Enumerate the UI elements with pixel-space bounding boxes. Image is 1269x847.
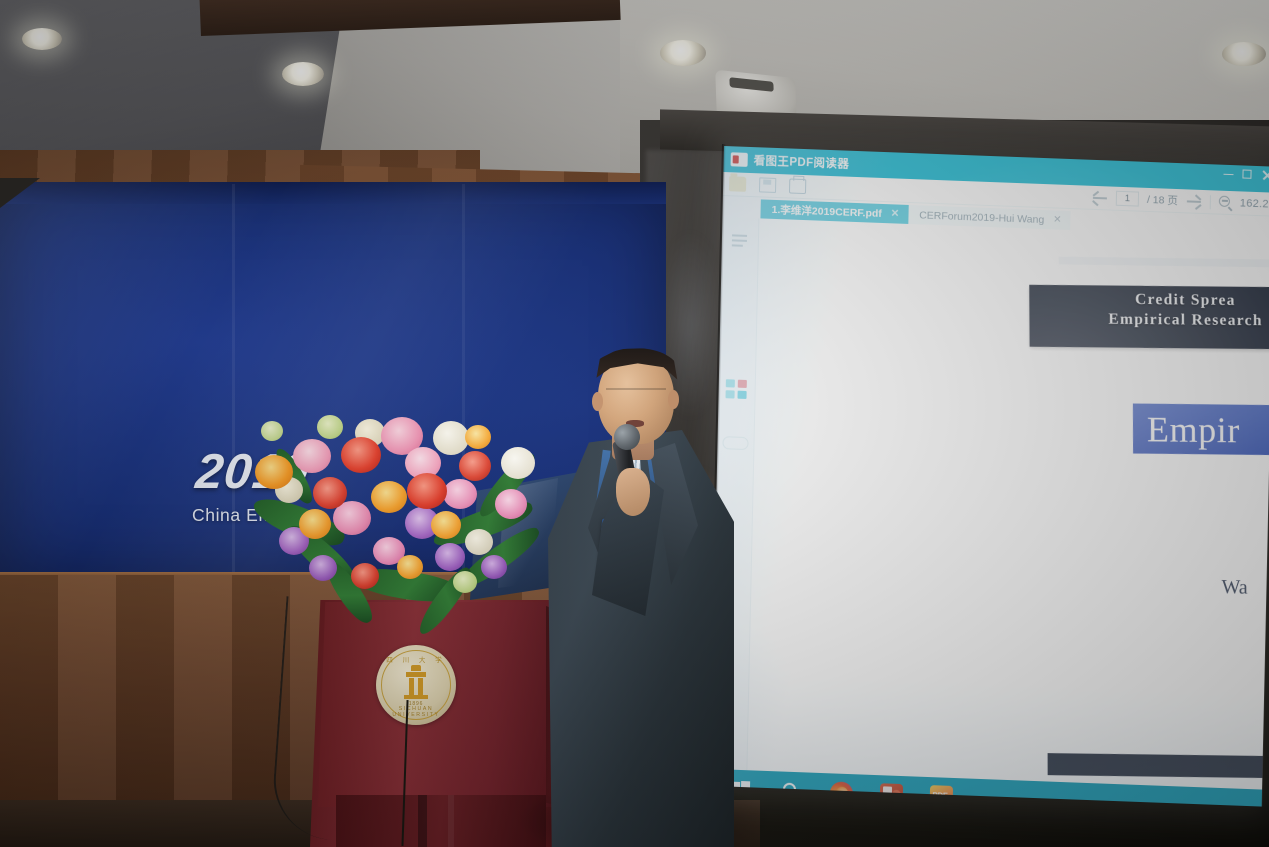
list-outline-icon[interactable] bbox=[729, 231, 750, 252]
window-title: 看图王PDF阅读器 bbox=[754, 152, 850, 172]
flower-bouquet bbox=[255, 415, 555, 640]
arrow-right-icon[interactable] bbox=[1186, 195, 1202, 208]
slide-highlight-text: Empir bbox=[1147, 408, 1240, 451]
oval-shape-icon[interactable] bbox=[722, 436, 748, 450]
tab-label: 1.李维洋2019CERF.pdf bbox=[771, 202, 882, 221]
grid-thumbnails-icon[interactable] bbox=[725, 379, 747, 401]
printer-icon[interactable] bbox=[789, 178, 806, 194]
folder-open-icon[interactable] bbox=[729, 176, 746, 192]
ceiling-downlight bbox=[22, 28, 62, 50]
speaker-brow-line bbox=[606, 388, 666, 390]
ceiling-downlight bbox=[660, 40, 706, 66]
minimize-icon[interactable] bbox=[1223, 169, 1233, 179]
podium-base-groove bbox=[418, 795, 427, 847]
projection-screen: 看图王PDF阅读器 1 / 18 页 162.2 bbox=[710, 146, 1269, 807]
close-icon[interactable] bbox=[1261, 170, 1269, 180]
close-icon[interactable]: ✕ bbox=[1053, 214, 1062, 225]
maximize-icon[interactable] bbox=[1242, 169, 1252, 179]
window-body: Credit Sprea Empirical Research Empir Wa bbox=[710, 217, 1269, 790]
save-icon[interactable] bbox=[759, 177, 776, 193]
page-number-input[interactable]: 1 bbox=[1116, 191, 1139, 207]
magnifier-minus-icon[interactable] bbox=[1219, 195, 1233, 210]
ceiling-downlight bbox=[282, 62, 324, 86]
slide-top-strip bbox=[1059, 257, 1269, 268]
window-controls bbox=[1223, 169, 1269, 181]
slide-author-text: Wa bbox=[1221, 576, 1247, 599]
photo-stage: 2019 China Em 看图王PDF阅读器 1 / 18 页 bbox=[0, 0, 1269, 847]
pdf-page-area[interactable]: Credit Sprea Empirical Research Empir Wa bbox=[747, 218, 1269, 789]
emblem-gate-glyph bbox=[402, 665, 430, 699]
slide-bottom-band bbox=[1048, 753, 1269, 779]
podium-base-groove bbox=[448, 795, 454, 847]
speaker-hand bbox=[616, 468, 650, 516]
speaker-ear bbox=[592, 392, 603, 411]
toolbar-divider bbox=[1210, 195, 1211, 209]
zoom-group: 162.2 bbox=[1219, 195, 1269, 211]
tab-label: CERForum2019-Hui Wang bbox=[919, 209, 1044, 226]
ceiling-downlight bbox=[1222, 42, 1266, 66]
pdf-app-logo-icon bbox=[731, 152, 748, 167]
page-navigation-group: 1 / 18 页 162.2 bbox=[1092, 190, 1269, 212]
arrow-left-icon[interactable] bbox=[1092, 191, 1108, 204]
zoom-level-value[interactable]: 162.2 bbox=[1240, 197, 1269, 210]
page-total-label: / 18 页 bbox=[1147, 192, 1178, 208]
speaker-ear bbox=[668, 390, 679, 409]
close-icon[interactable]: ✕ bbox=[891, 208, 900, 219]
slide-banner-line-2: Empirical Research bbox=[1026, 309, 1269, 332]
slide-title-banner-text: Credit Sprea Empirical Research bbox=[1025, 289, 1269, 332]
